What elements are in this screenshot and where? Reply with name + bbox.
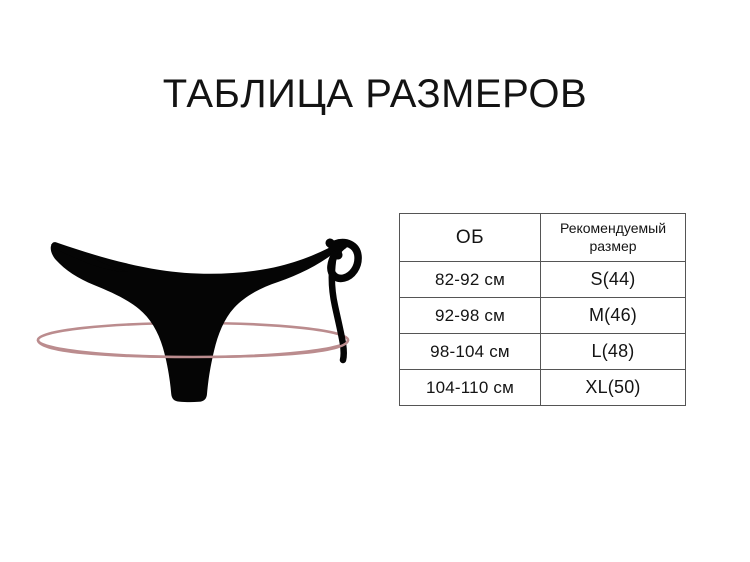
column-header-recommended-size: Рекомендуемый размер: [541, 214, 686, 262]
size-table-container: ОБ Рекомендуемый размер 82-92 см S(44) 9…: [399, 213, 685, 406]
cell-size: M(46): [541, 298, 686, 334]
cell-size: L(48): [541, 334, 686, 370]
column-header-ob: ОБ: [400, 214, 541, 262]
cell-ob: 98-104 см: [400, 334, 541, 370]
cell-size: XL(50): [541, 370, 686, 406]
cell-ob: 92-98 см: [400, 298, 541, 334]
table-row: 92-98 см M(46): [400, 298, 686, 334]
table-header-row: ОБ Рекомендуемый размер: [400, 214, 686, 262]
table-row: 98-104 см L(48): [400, 334, 686, 370]
side-tie-strand: [332, 254, 344, 360]
garment-illustration: [28, 218, 373, 408]
size-chart-canvas: ТАБЛИЦА РАЗМЕРОВ: [0, 0, 750, 562]
size-table-head: ОБ Рекомендуемый размер: [400, 214, 686, 262]
cell-size: S(44): [541, 262, 686, 298]
cell-ob: 104-110 см: [400, 370, 541, 406]
page-title: ТАБЛИЦА РАЗМЕРОВ: [0, 72, 750, 116]
size-table-body: 82-92 см S(44) 92-98 см M(46) 98-104 см …: [400, 262, 686, 406]
cell-ob: 82-92 см: [400, 262, 541, 298]
table-row: 82-92 см S(44): [400, 262, 686, 298]
size-table: ОБ Рекомендуемый размер 82-92 см S(44) 9…: [399, 213, 686, 406]
table-row: 104-110 см XL(50): [400, 370, 686, 406]
